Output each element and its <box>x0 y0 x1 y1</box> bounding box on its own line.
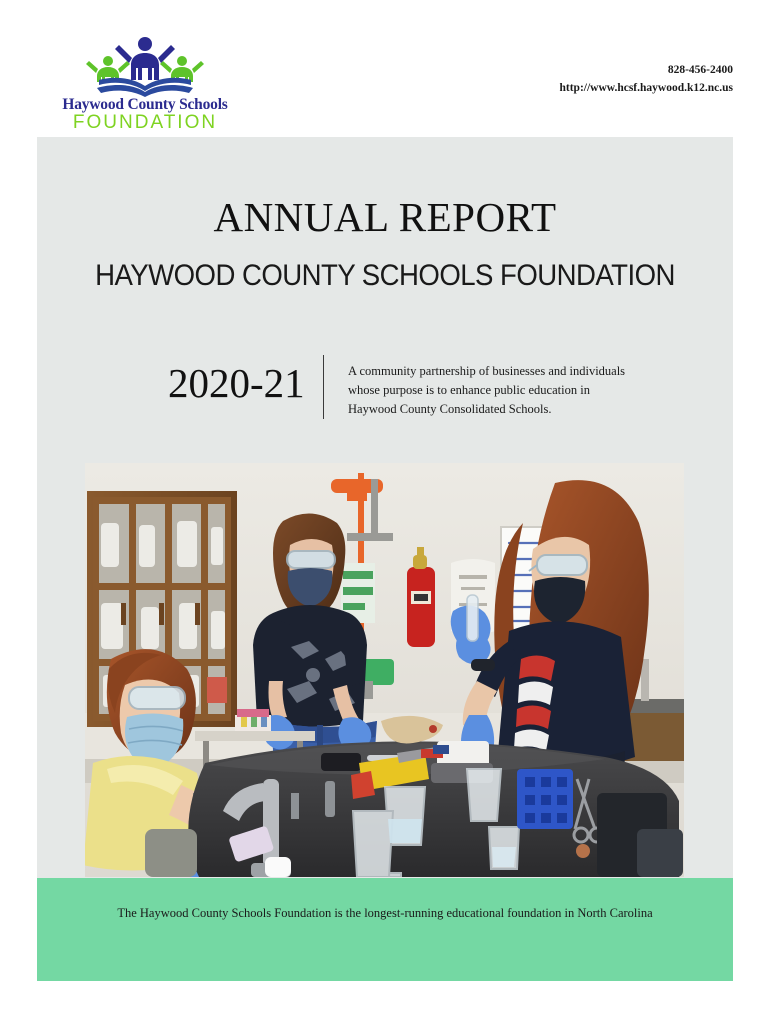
footer-banner-text: The Haywood County Schools Foundation is… <box>37 906 733 921</box>
page-subtitle: HAYWOOD COUNTY SCHOOLS FOUNDATION <box>65 259 705 293</box>
vertical-divider <box>323 355 324 419</box>
phone-number: 828-456-2400 <box>560 62 734 80</box>
contact-info: 828-456-2400 http://www.hcsf.haywood.k12… <box>560 62 734 98</box>
tagline-line-1: A community partnership of businesses an… <box>348 362 668 381</box>
website-url[interactable]: http://www.hcsf.haywood.k12.nc.us <box>560 80 734 98</box>
logo-name-line1: Haywood County Schools <box>55 97 235 113</box>
page-header: Haywood County Schools FOUNDATION 828-45… <box>0 0 770 137</box>
mission-tagline: A community partnership of businesses an… <box>348 362 668 418</box>
footer-banner: The Haywood County Schools Foundation is… <box>37 878 733 981</box>
tagline-line-3: Haywood County Consolidated Schools. <box>348 400 668 419</box>
logo-name-line2: FOUNDATION <box>55 113 235 133</box>
tagline-line-2: whose purpose is to enhance public educa… <box>348 381 668 400</box>
organization-logo: Haywood County Schools FOUNDATION <box>55 36 235 131</box>
children-on-book-logo-icon <box>55 36 235 98</box>
page-title: ANNUAL REPORT <box>37 193 733 241</box>
cover-panel: ANNUAL REPORT HAYWOOD COUNTY SCHOOLS FOU… <box>37 137 733 981</box>
lab-students-photo <box>85 463 684 877</box>
report-year: 2020-21 <box>168 359 305 407</box>
year-tagline-row: 2020-21 A community partnership of busin… <box>37 355 733 427</box>
